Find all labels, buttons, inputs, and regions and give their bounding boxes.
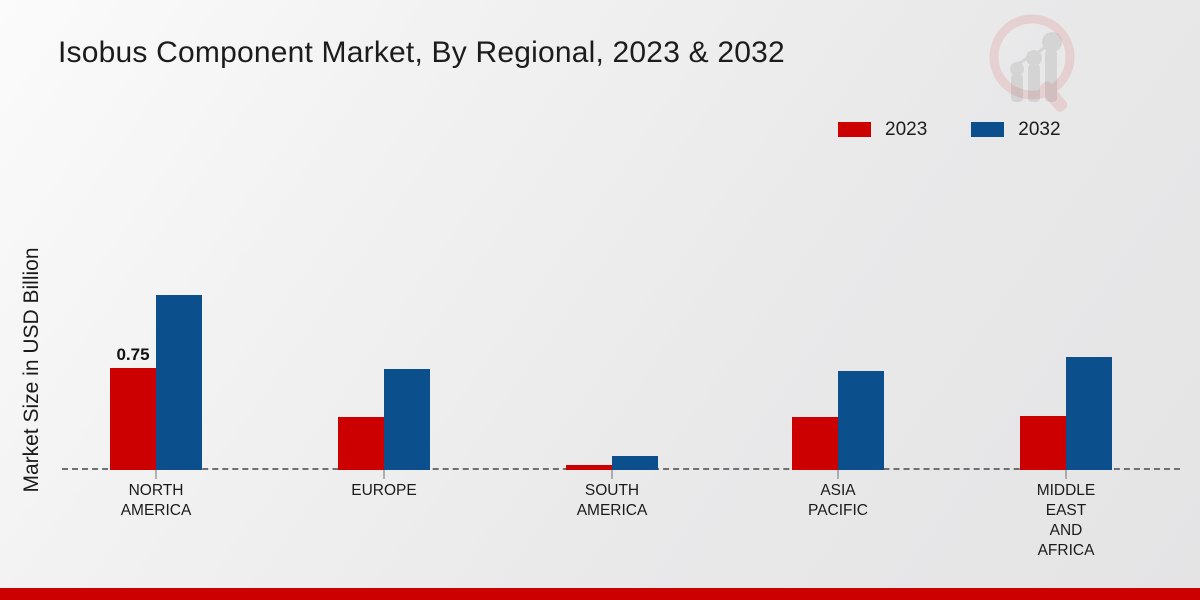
x-axis-category-label: EUROPE — [289, 481, 479, 501]
legend-swatch-2023 — [838, 122, 871, 137]
footer-accent-strip — [0, 588, 1200, 600]
x-axis-tick — [612, 470, 613, 479]
chart-canvas: Isobus Component Market, By Regional, 20… — [0, 0, 1200, 600]
bar-group: EUROPE — [284, 150, 484, 470]
x-axis-tick — [1066, 470, 1067, 479]
x-axis-category-label: SOUTH AMERICA — [517, 481, 707, 521]
market-research-logo-watermark — [985, 12, 1090, 112]
bar-2032-middle-east-and-africa[interactable] — [1066, 357, 1112, 470]
bars-wrapper: 0.75 — [110, 150, 202, 470]
bar-2023-asia-pacific[interactable] — [792, 417, 838, 470]
bar-2032-north-america[interactable] — [156, 295, 202, 470]
chart-title: Isobus Component Market, By Regional, 20… — [58, 36, 785, 70]
bar-group: MIDDLE EAST AND AFRICA — [966, 150, 1166, 470]
x-axis-tick — [838, 470, 839, 479]
x-axis-category-label: MIDDLE EAST AND AFRICA — [971, 481, 1161, 561]
legend-swatch-2032 — [971, 122, 1004, 137]
bar-2032-south-america[interactable] — [612, 456, 658, 470]
plot-area: 0.75NORTH AMERICAEUROPESOUTH AMERICAASIA… — [40, 150, 1190, 470]
legend-item-2023[interactable]: 2023 — [838, 120, 927, 139]
x-axis-tick — [156, 470, 157, 479]
bar-2023-europe[interactable] — [338, 417, 384, 470]
bar-2023-middle-east-and-africa[interactable] — [1020, 416, 1066, 470]
legend-label-2023: 2023 — [885, 120, 927, 139]
bar-2023-north-america[interactable]: 0.75 — [110, 368, 156, 470]
bars-wrapper — [792, 150, 884, 470]
chart-legend: 2023 2032 — [838, 120, 1061, 139]
bar-2032-europe[interactable] — [384, 369, 430, 470]
bar-2023-south-america[interactable] — [566, 465, 612, 470]
bar-value-label: 0.75 — [116, 345, 149, 365]
x-axis-category-label: ASIA PACIFIC — [743, 481, 933, 521]
legend-item-2032[interactable]: 2032 — [971, 120, 1060, 139]
x-axis-tick — [384, 470, 385, 479]
legend-label-2032: 2032 — [1018, 120, 1060, 139]
bar-group: SOUTH AMERICA — [512, 150, 712, 470]
bar-group: 0.75NORTH AMERICA — [56, 150, 256, 470]
x-axis-category-label: NORTH AMERICA — [61, 481, 251, 521]
bar-group: ASIA PACIFIC — [738, 150, 938, 470]
bar-2032-asia-pacific[interactable] — [838, 371, 884, 470]
bar-groups: 0.75NORTH AMERICAEUROPESOUTH AMERICAASIA… — [40, 150, 1190, 470]
bars-wrapper — [338, 150, 430, 470]
bars-wrapper — [1020, 150, 1112, 470]
bars-wrapper — [566, 150, 658, 470]
